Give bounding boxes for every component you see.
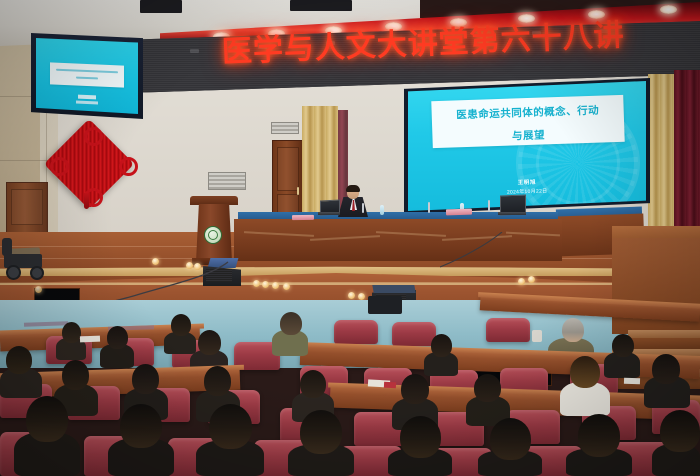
knot-loop-right xyxy=(119,157,138,176)
footlight-10 xyxy=(528,276,535,283)
wheelchair-wheel-left xyxy=(6,265,21,280)
stage-step-riser-1 xyxy=(628,338,700,349)
audience-head-front-7 xyxy=(578,414,620,457)
audience-head-r2-1 xyxy=(62,322,81,343)
audience-head-front-4 xyxy=(300,410,342,454)
microphone-stand-2 xyxy=(488,200,490,212)
footlight-5 xyxy=(272,282,279,289)
audience-head-r2-2 xyxy=(171,314,191,336)
audience-head-r2-6 xyxy=(431,334,452,357)
slide-title-card: 医患命运共同体的概念、行动 与展望 xyxy=(431,95,624,148)
seat-row1-3[interactable] xyxy=(486,318,530,342)
ceiling-vent-panel-2 xyxy=(290,0,352,11)
audience-head-r3-7 xyxy=(474,374,501,402)
projection-screen: 医患命运共同体的概念、行动 与展望 王明旭 2024年10月22日 xyxy=(408,81,646,211)
audience-head-front-2 xyxy=(120,404,162,448)
stage-cable-2 xyxy=(440,232,520,272)
paper-cup xyxy=(532,330,542,342)
audience-head-r3-5 xyxy=(300,370,326,398)
notebook-3 xyxy=(624,378,640,385)
audience-head-r2-4 xyxy=(198,330,221,355)
audience-head-r3-9 xyxy=(652,354,680,384)
podium-top xyxy=(190,196,238,205)
audience-head-r3-2 xyxy=(62,360,89,390)
downlight-8 xyxy=(660,5,677,14)
microphone-stand-3 xyxy=(428,202,430,213)
seat-row1-1[interactable] xyxy=(334,320,378,344)
knot-loop-top xyxy=(84,127,103,146)
left-monitor-title-card xyxy=(50,62,124,87)
footlight-4 xyxy=(262,281,269,288)
audience-head-r2-5 xyxy=(280,312,302,335)
wheelchair-back xyxy=(2,238,12,256)
nameplate-card xyxy=(446,209,472,216)
audience-head-r2-3 xyxy=(107,326,128,349)
notebook-2 xyxy=(80,336,100,343)
curtain-maroon-right xyxy=(674,70,700,234)
audience-head-r3-8-blonde xyxy=(570,356,600,388)
footlight-7 xyxy=(348,292,355,299)
ceiling-vent-panel-1 xyxy=(140,0,182,13)
footlight-3 xyxy=(253,280,260,287)
floor-speaker-box xyxy=(368,296,402,314)
audience-head-front-5 xyxy=(400,416,441,458)
laptop-base-left xyxy=(318,212,340,215)
footlight-12 xyxy=(35,286,42,293)
footlight-8 xyxy=(358,293,365,300)
audience-head-r3-4 xyxy=(204,366,231,396)
audience-person-head-gray xyxy=(562,318,584,342)
audience-head-r2-7 xyxy=(612,334,634,357)
audience-head-front-3 xyxy=(209,404,252,449)
audience-head-front-6 xyxy=(490,418,531,460)
footlight-6 xyxy=(283,283,290,290)
podium-emblem-icon xyxy=(204,226,222,244)
wheelchair-wheel-right xyxy=(30,266,44,280)
presenter-hair xyxy=(346,185,360,192)
water-bottle-2 xyxy=(380,205,384,215)
lecture-hall-photo: 医学与人文大讲堂第六十八讲 医患命运共同体的概念、行动 xyxy=(0,0,700,476)
nameplate-card-2 xyxy=(292,215,314,220)
stage-door-left[interactable] xyxy=(272,140,304,220)
laptop-base-right xyxy=(498,212,526,215)
audience-head-r3-1 xyxy=(6,346,32,374)
knot-loop-left xyxy=(50,157,69,176)
audience-head-r3-3 xyxy=(132,364,159,394)
seat-row1-2[interactable] xyxy=(392,322,436,346)
audience-head-front-1 xyxy=(26,396,68,442)
chinese-knot-tassel xyxy=(84,193,89,209)
left-monitor-presenter-line xyxy=(78,95,96,100)
audience-head-front-8 xyxy=(660,410,700,452)
wall-ac-vent xyxy=(208,172,246,190)
footlight-9 xyxy=(518,278,525,285)
wall-ac-vent-2 xyxy=(271,122,299,134)
audience-head-r3-6 xyxy=(401,374,429,404)
microphone-stand-1 xyxy=(362,203,364,213)
notebook-cover-1 xyxy=(384,382,396,389)
stage-monitor-right-top xyxy=(372,285,415,293)
